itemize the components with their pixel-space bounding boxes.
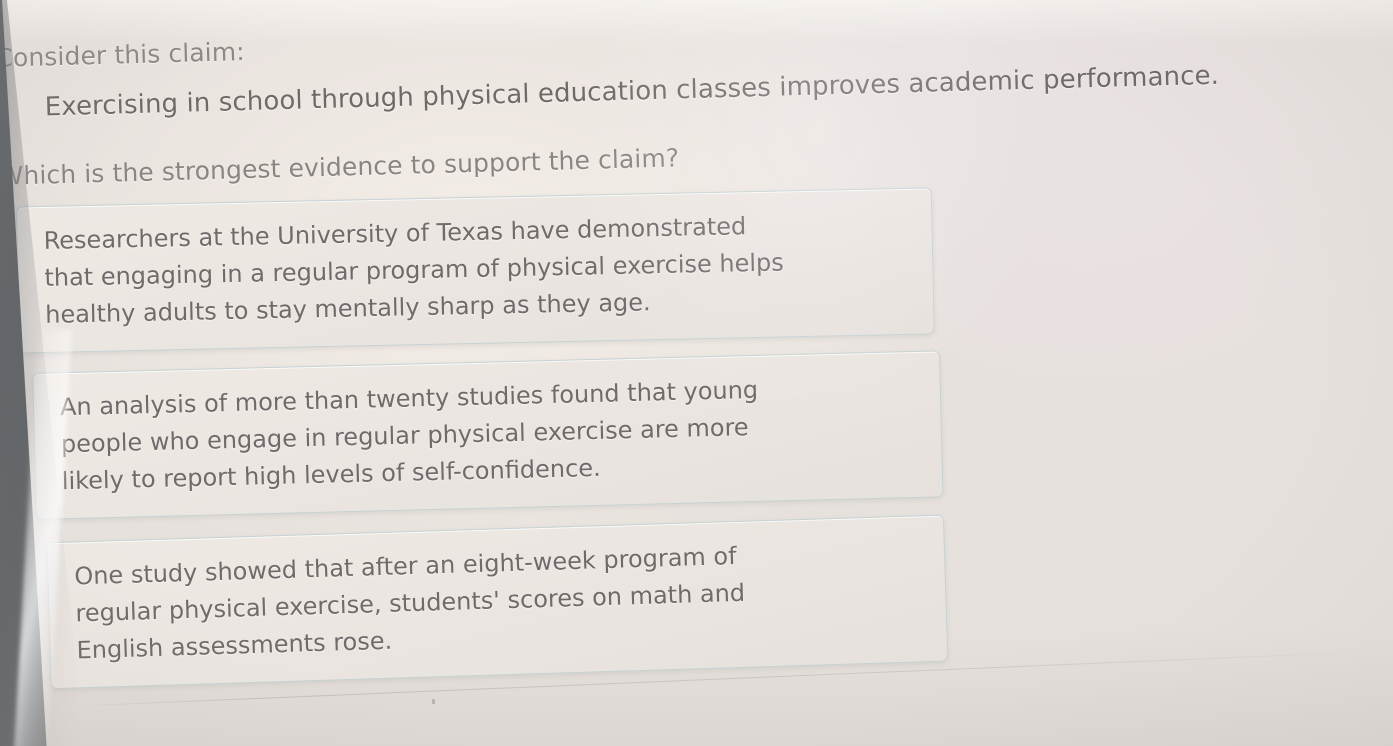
- quiz-screenshot: Consider this claim: Exercising in schoo…: [0, 0, 1393, 746]
- quiz-content: Consider this claim: Exercising in schoo…: [0, 0, 1393, 746]
- answer-option-1[interactable]: Researchers at the University of Texas h…: [16, 187, 935, 353]
- answer-options-list: Researchers at the University of Texas h…: [0, 184, 970, 689]
- answer-option-3[interactable]: One study showed that after an eight-wee…: [46, 515, 948, 690]
- claim-statement-text: Exercising in school through physical ed…: [44, 61, 1219, 123]
- question-prompt-text: Which is the strongest evidence to suppo…: [0, 143, 680, 190]
- dust-speck: [432, 699, 435, 704]
- answer-option-2[interactable]: An analysis of more than twenty studies …: [32, 350, 943, 520]
- claim-lead-in-text: Consider this claim:: [0, 37, 245, 73]
